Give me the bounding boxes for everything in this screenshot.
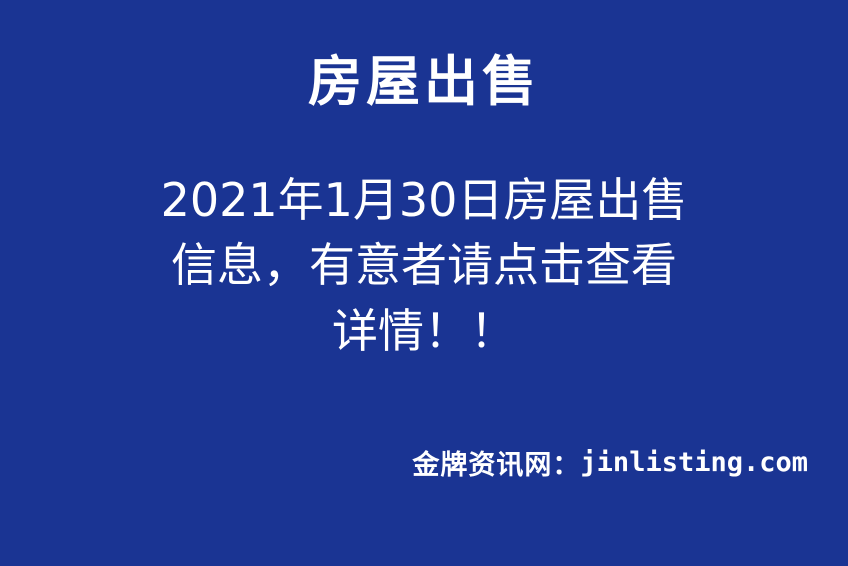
body-line-1: 2021年1月30日房屋出售 [90,168,758,233]
footer-site-url: jinlisting.com [580,447,808,478]
page-title: 房屋出售 [0,52,848,111]
body-line-3: 详情！！ [90,299,758,364]
footer-attribution: 金牌资讯网：jinlisting.com [0,443,808,482]
poster-canvas: 房屋出售 2021年1月30日房屋出售 信息，有意者请点击查看 详情！！ 金牌资… [0,0,848,566]
poster-body-text: 2021年1月30日房屋出售 信息，有意者请点击查看 详情！！ [0,168,848,364]
footer-site-name: 金牌资讯网： [412,450,580,481]
body-line-2: 信息，有意者请点击查看 [90,233,758,298]
